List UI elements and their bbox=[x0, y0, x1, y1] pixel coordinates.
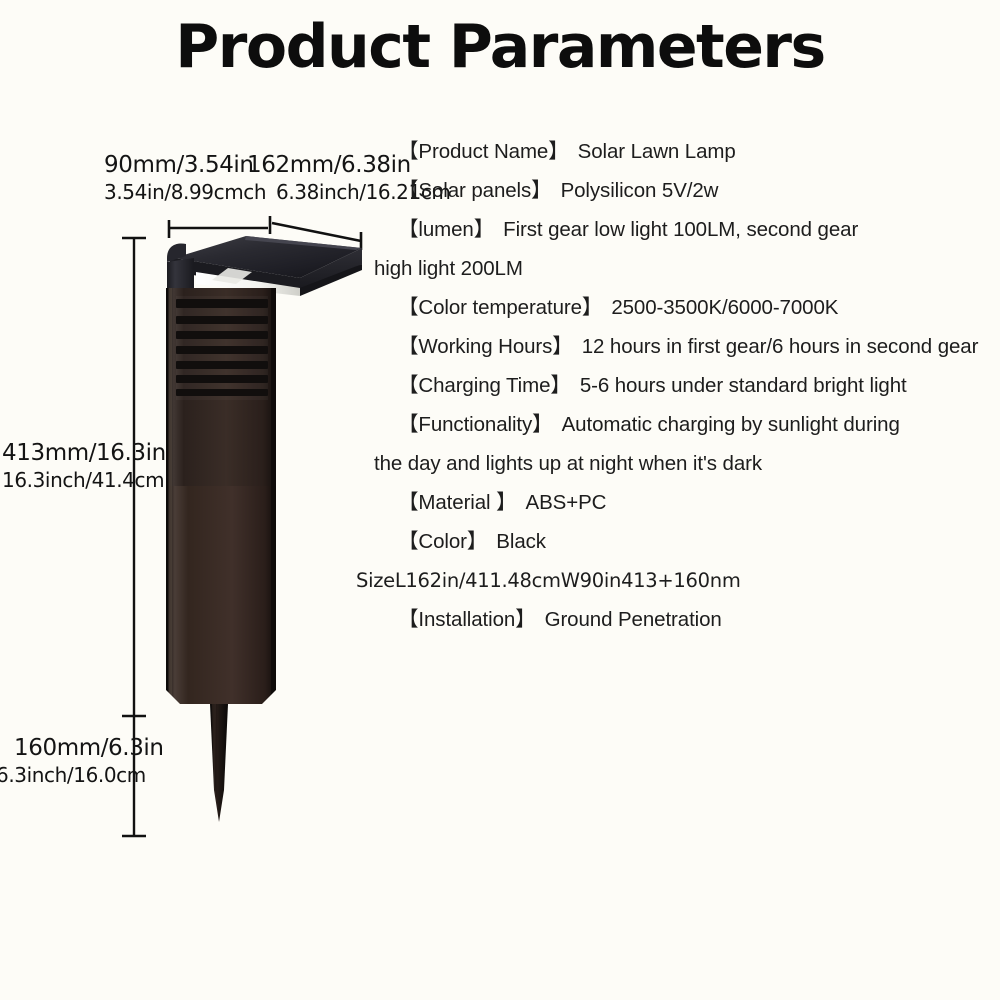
vent-sheen bbox=[176, 296, 268, 400]
spec-row: 【Working Hours】12 hours in first gear/6 … bbox=[398, 327, 998, 366]
spec-row: 【Charging Time】5-6 hours under standard … bbox=[398, 366, 998, 405]
spec-key: 【Functionality】 bbox=[398, 413, 553, 436]
spec-row: the day and lights up at night when it's… bbox=[374, 444, 998, 483]
spec-key: 【Working Hours】 bbox=[398, 335, 573, 358]
spec-value: Automatic charging by sunlight during bbox=[562, 413, 900, 436]
spec-value: 5-6 hours under standard bright light bbox=[580, 374, 907, 397]
spec-value: Ground Penetration bbox=[545, 608, 722, 631]
spec-value: Polysilicon 5V/2w bbox=[561, 179, 719, 202]
spec-value: 12 hours in first gear/6 hours in second… bbox=[582, 335, 979, 358]
spec-key: 【Charging Time】 bbox=[398, 374, 571, 397]
spec-key: 【Product Name】 bbox=[398, 140, 569, 163]
dimension-label-height-413: 413mm/16.3in bbox=[2, 440, 166, 466]
spec-row: 【Functionality】Automatic charging by sun… bbox=[398, 405, 998, 444]
spec-key: 【Installation】 bbox=[398, 608, 536, 631]
spec-key: 【Color】 bbox=[398, 530, 487, 553]
spec-value: the day and lights up at night when it's… bbox=[374, 452, 762, 475]
spec-key: 【lumen】 bbox=[398, 218, 494, 241]
spec-row: 【Product Name】Solar Lawn Lamp bbox=[398, 132, 998, 171]
spec-row: high light 200LM bbox=[374, 249, 998, 288]
dimension-line-width-90 bbox=[169, 216, 270, 238]
dimension-label-width-162: 162mm/6.38in bbox=[247, 152, 411, 178]
spec-value: ABS+PC bbox=[526, 491, 607, 514]
spec-key: 【Color temperature】 bbox=[398, 296, 602, 319]
spec-key: 【Solar panels】 bbox=[398, 179, 552, 202]
dimension-label-height-160: 160mm/6.3in bbox=[14, 735, 164, 761]
spec-row: SizeL162in/411.48cmW90in413+160nm bbox=[356, 561, 998, 600]
dimension-label-height-160-sub: 6.3inch/16.0cm bbox=[0, 763, 146, 787]
spec-row: 【lumen】First gear low light 100LM, secon… bbox=[398, 210, 998, 249]
lamp-illustration bbox=[0, 0, 400, 1000]
spec-value: 2500-3500K/6000-7000K bbox=[611, 296, 838, 319]
dimension-label-width-90: 90mm/3.54in bbox=[104, 152, 254, 178]
spec-key: 【Material 】 bbox=[398, 491, 517, 514]
spec-value: Solar Lawn Lamp bbox=[578, 140, 736, 163]
product-image bbox=[0, 0, 400, 1000]
spec-value: SizeL162in/411.48cmW90in413+160nm bbox=[356, 569, 741, 592]
spec-row: 【Material 】ABS+PC bbox=[398, 483, 998, 522]
spec-list: 【Product Name】Solar Lawn Lamp【Solar pane… bbox=[398, 132, 998, 639]
dimension-label-width-90-sub: 3.54in/8.99cmch bbox=[104, 180, 266, 204]
spec-value: First gear low light 100LM, second gear bbox=[503, 218, 858, 241]
product-parameters-page: Product Parameters bbox=[0, 0, 1000, 1000]
ground-spike bbox=[210, 704, 228, 822]
spec-row: 【Color temperature】2500-3500K/6000-7000K bbox=[398, 288, 998, 327]
spec-row: 【Color】Black bbox=[398, 522, 998, 561]
spec-value: Black bbox=[496, 530, 546, 553]
spec-row: 【Installation】Ground Penetration bbox=[398, 600, 998, 639]
spec-row: 【Solar panels】Polysilicon 5V/2w bbox=[398, 171, 998, 210]
spec-value: high light 200LM bbox=[374, 257, 523, 280]
dimension-label-height-413-sub: 16.3inch/41.4cm bbox=[2, 468, 164, 492]
